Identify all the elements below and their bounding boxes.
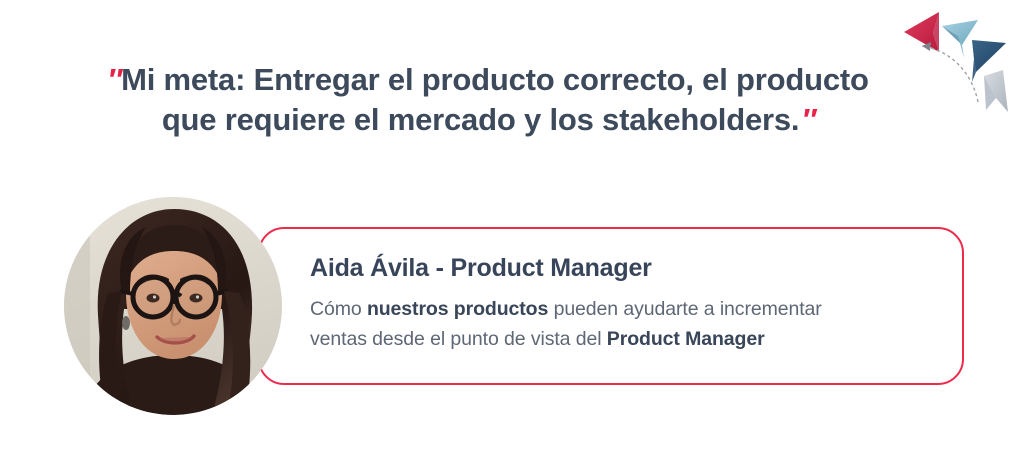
speaker-description-line-2: ventas desde el punto de vista del Produ… <box>310 324 960 354</box>
quote-line-2: que requiere el mercado y los stakeholde… <box>88 100 888 140</box>
navy-arrow-icon <box>972 40 1006 82</box>
light-blue-arrow-icon <box>942 20 978 58</box>
quote-text-line-1: Mi meta: Entregar el producto correcto, … <box>121 62 869 97</box>
speaker-avatar-photo <box>64 197 282 415</box>
quote-block: ″Mi meta: Entregar el producto correcto,… <box>88 60 888 140</box>
gray-arrow-icon <box>984 70 1008 112</box>
close-quote-mark: ″ <box>801 100 814 140</box>
open-quote-mark: ″ <box>107 60 120 100</box>
desc-text-3: ventas desde el punto de vista del <box>310 328 607 350</box>
quote-text-line-2: que requiere el mercado y los stakeholde… <box>162 102 800 137</box>
decorative-arrows-cluster <box>890 0 1024 120</box>
dashed-curved-arrow-icon <box>922 42 978 102</box>
desc-text-1: Cómo <box>310 298 367 320</box>
desc-text-2: pueden ayudarte a incrementar <box>548 298 821 320</box>
speaker-name-title: Aida Ávila - Product Manager <box>310 252 960 284</box>
speaker-description-line-1: Cómo nuestros productos pueden ayudarte … <box>310 294 960 324</box>
presentation-slide: ″Mi meta: Entregar el producto correcto,… <box>0 0 1024 471</box>
quote-line-1: ″Mi meta: Entregar el producto correcto,… <box>88 60 888 100</box>
desc-bold-1: nuestros productos <box>367 298 548 320</box>
red-arrow-icon <box>904 12 939 52</box>
desc-bold-2: Product Manager <box>607 328 765 350</box>
speaker-text-group: Aida Ávila - Product Manager Cómo nuestr… <box>310 252 960 354</box>
speaker-description: Cómo nuestros productos pueden ayudarte … <box>310 294 960 354</box>
